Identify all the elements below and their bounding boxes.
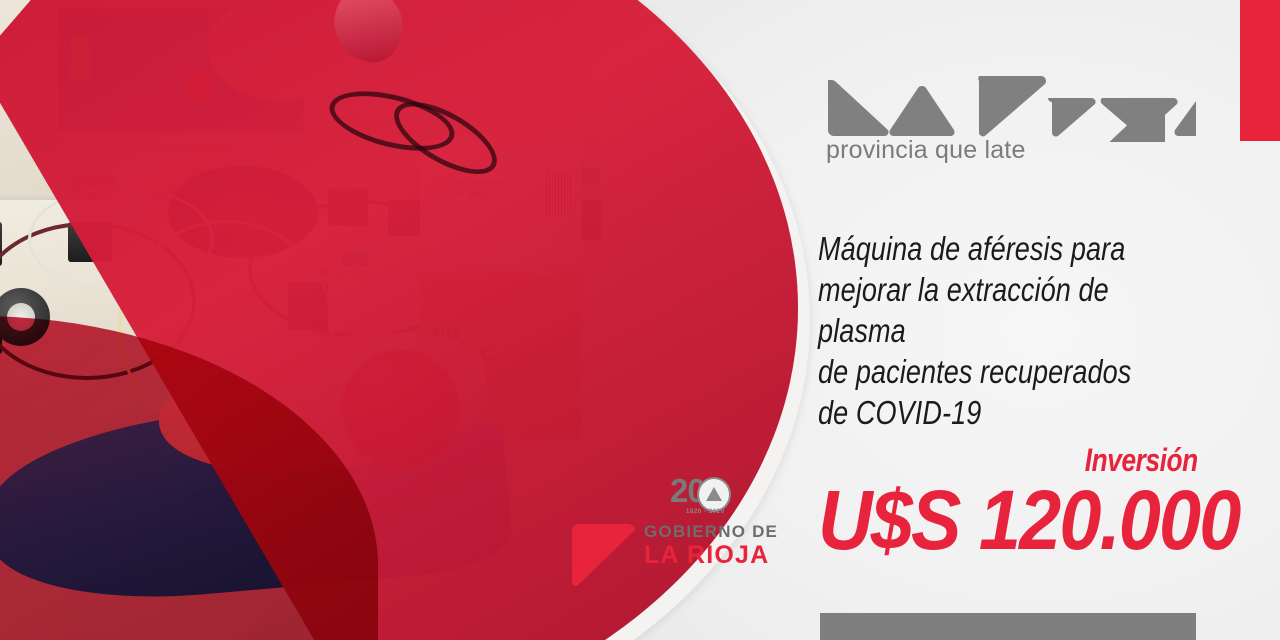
bottom-gray-bar <box>820 613 1196 640</box>
brand-wordmark: provincia que late <box>826 136 1026 165</box>
gov-line-1: GOBIERNO DE <box>644 522 778 542</box>
provincia-que-late-logo: provincia que late <box>826 72 1196 182</box>
la-rioja-triangles-icon <box>826 72 1196 142</box>
coat-of-arms-icon <box>697 477 731 512</box>
red-accent-block <box>1240 0 1280 141</box>
gobierno-de-la-rioja-logo: 200 1820 - 2020 GOBIERNO DE LA RIOJA <box>572 472 782 590</box>
investment-amount: U$S 120.000 <box>818 478 1196 562</box>
headline-text: Máquina de aféresis para mejorar la extr… <box>818 228 1162 433</box>
gov-line-2: LA RIOJA <box>644 542 778 569</box>
gov-triangle-icon <box>572 524 636 586</box>
poster-canvas: RETURN PROCESS DRAW TIME PLT RBC WB INLE… <box>0 0 1280 640</box>
bicentennial-emblem-icon: 200 1820 - 2020 <box>670 474 756 522</box>
emblem-years: 1820 - 2020 <box>686 509 725 515</box>
